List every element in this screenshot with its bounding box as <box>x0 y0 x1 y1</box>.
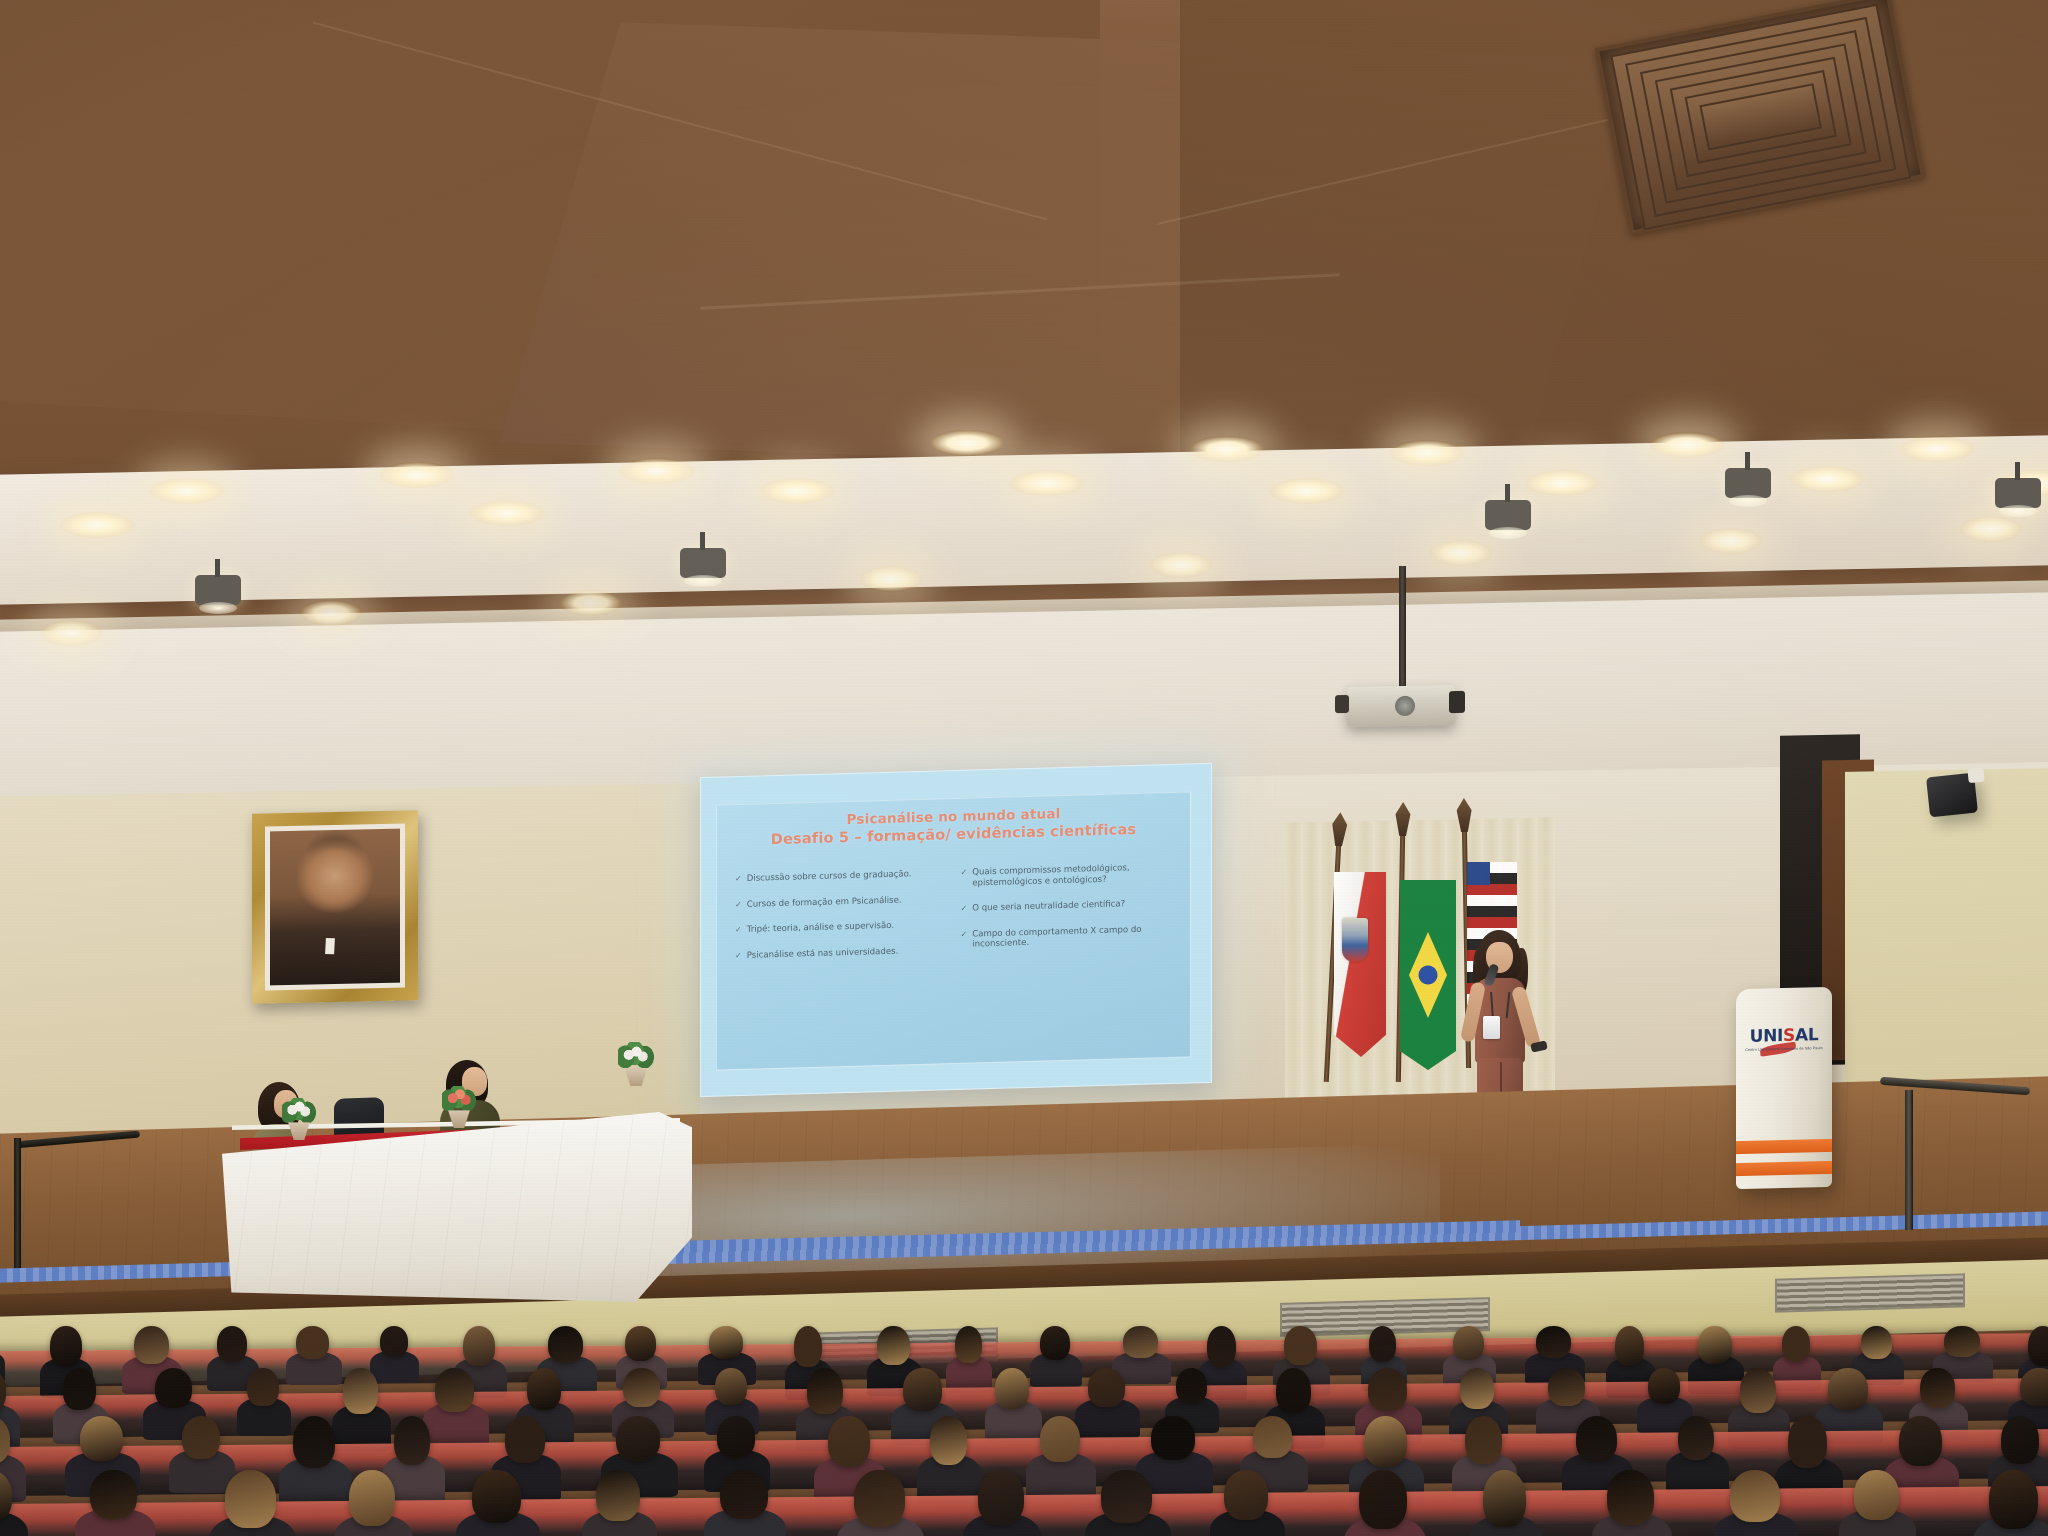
portrait-mat <box>265 824 405 991</box>
ceiling-downlight-icon <box>560 590 622 616</box>
audience-member-head <box>828 1416 871 1467</box>
audience-member-head <box>50 1326 81 1366</box>
audience-member-head <box>1536 1326 1571 1358</box>
podium-logo: UNISAL Centro Universitário Salesiano de… <box>1745 1025 1823 1052</box>
audience-member-head <box>134 1326 169 1364</box>
slide-bullet-text: Quais compromissos metodológicos, episte… <box>972 862 1172 889</box>
audience-member-head <box>715 1368 747 1405</box>
audience-member-head <box>155 1368 192 1408</box>
audience-member-head <box>1678 1416 1715 1460</box>
brazil-flag-globe <box>1419 966 1438 985</box>
checkmark-icon: ✓ <box>735 874 742 885</box>
audience-member-head <box>1548 1368 1586 1406</box>
audience-member-head <box>1648 1368 1681 1404</box>
brazil-flag <box>1400 880 1456 1070</box>
audience-member-head <box>1253 1416 1293 1458</box>
ceiling-downlight-icon <box>1010 470 1084 496</box>
slide-bullet-left-2: ✓Cursos de formação em Psicanálise. <box>735 894 947 910</box>
audience-member-head <box>527 1368 561 1410</box>
checkmark-icon: ✓ <box>735 925 742 936</box>
audience-member-head <box>1698 1326 1731 1364</box>
checkmark-icon: ✓ <box>961 929 968 950</box>
presenter-name-badge <box>1483 1016 1500 1039</box>
audience-member-head <box>247 1368 279 1406</box>
audience-member-head <box>1920 1368 1955 1408</box>
slide-bullet-text: Psicanálise está nas universidades. <box>747 945 947 961</box>
audience-member-head <box>1730 1470 1780 1522</box>
audience-member-head <box>2001 1416 2040 1464</box>
ceiling-downlight-icon <box>1900 436 1974 462</box>
ceiling-downlight-icon <box>150 478 224 504</box>
ceiling-downlight-icon <box>60 512 134 538</box>
projector-lens-icon <box>1395 696 1415 716</box>
audience-member-head <box>217 1326 247 1362</box>
ceiling-downlight-icon <box>1150 552 1212 578</box>
ceiling-downlight-icon <box>300 600 362 626</box>
ceiling-downlight-icon <box>1270 478 1344 504</box>
audience-member-head <box>1944 1326 1979 1357</box>
audience-member-head <box>596 1470 640 1521</box>
ceiling-downlight-icon <box>1960 516 2022 542</box>
audience-member-head <box>807 1368 843 1414</box>
audience-member-head <box>1101 1470 1151 1523</box>
audience-member-head <box>1276 1368 1312 1413</box>
slide-content: Psicanálise no mundo atual Desafio 5 – f… <box>716 791 1191 1070</box>
audience-member-head <box>709 1326 743 1359</box>
bouquet-paper-wrap <box>624 1068 647 1086</box>
audience-member-head <box>1828 1368 1868 1410</box>
slide-bullet-text: Cursos de formação em Psicanálise. <box>747 894 947 910</box>
audience-member-head <box>1176 1368 1208 1404</box>
portrait-collar <box>325 938 335 954</box>
slide-bullet-text: Campo do comportamento X campo do incons… <box>972 923 1172 950</box>
slide-title: Psicanálise no mundo atual Desafio 5 – f… <box>731 803 1176 851</box>
bouquet-blooms <box>447 1089 471 1108</box>
audience-member-head <box>1460 1368 1495 1409</box>
audience-member-head <box>472 1470 521 1523</box>
audience-member-head <box>1284 1326 1317 1365</box>
stage-spotlight-icon <box>680 548 726 578</box>
slide-right-column: ✓Quais compromissos metodológicos, epist… <box>961 862 1173 970</box>
audience-member-head <box>1740 1368 1777 1413</box>
unisal-uni: UNI <box>1750 1026 1783 1047</box>
audience-member-head <box>903 1368 942 1411</box>
ceiling-downlight-icon <box>470 500 544 526</box>
wall-speaker-icon <box>1926 773 1978 818</box>
audience-member-head <box>1899 1416 1943 1466</box>
audience-member-head <box>296 1326 329 1359</box>
projection-screen: Psicanálise no mundo atual Desafio 5 – f… <box>700 763 1212 1097</box>
audience-member-head <box>1854 1470 1899 1520</box>
projector-mount-pole <box>1399 566 1406 690</box>
audience-member-head <box>1088 1368 1126 1407</box>
audience-member-head <box>1368 1368 1408 1411</box>
checkmark-icon: ✓ <box>961 904 968 915</box>
audience-member-head <box>1040 1326 1070 1360</box>
stage-handrail-post-right <box>1905 1090 1913 1230</box>
audience-member-head <box>394 1416 431 1465</box>
unisal-al: AL <box>1795 1025 1818 1046</box>
audience-member-head <box>955 1326 982 1363</box>
ceiling-projector-icon <box>1347 685 1455 727</box>
auditorium-photo: Psicanálise no mundo atual Desafio 5 – f… <box>0 0 2048 1536</box>
right-wall-panel <box>1845 768 2048 1112</box>
stage-spotlight-icon <box>1725 468 1771 498</box>
audience-member-head <box>794 1326 822 1367</box>
checkmark-icon: ✓ <box>735 950 742 961</box>
slide-bullet-text: O que seria neutralidade científica? <box>972 898 1172 914</box>
audience-member-head <box>2028 1326 2048 1366</box>
audience-member-head <box>1615 1326 1644 1366</box>
ceiling-downlight-icon <box>1650 432 1724 458</box>
slide-bullet-text: Discussão sobre cursos de graduação. <box>747 868 947 884</box>
slide-bullet-right-2: ✓O que seria neutralidade científica? <box>961 898 1173 914</box>
audience-member-head <box>1453 1326 1484 1360</box>
wall-portrait <box>252 810 418 1003</box>
audience-member-head <box>1788 1416 1828 1468</box>
checkmark-icon: ✓ <box>735 899 742 910</box>
slide-bullet-right-3: ✓Campo do comportamento X campo do incon… <box>961 923 1173 950</box>
stage-spotlight-icon <box>1995 478 2041 508</box>
audience-member-head <box>225 1470 276 1528</box>
audience-member-head <box>623 1368 660 1407</box>
audience-member-head <box>90 1470 137 1519</box>
audience-member-head <box>343 1368 378 1414</box>
audience-member-head <box>717 1416 756 1458</box>
audience-member-head <box>1123 1326 1157 1358</box>
audience-member-head <box>930 1416 968 1465</box>
municipal-flag <box>1334 872 1386 1057</box>
audience-member-head <box>548 1326 583 1363</box>
slide-bullet-left-1: ✓Discussão sobre cursos de graduação. <box>735 868 947 884</box>
slide-bullet-left-3: ✓Tripé: teoria, análise e supervisão. <box>735 919 947 935</box>
stage-handrail-post <box>14 1138 21 1268</box>
audience-member-head <box>854 1470 905 1527</box>
unisal-wordmark: UNISAL <box>1745 1025 1823 1047</box>
audience-member-head <box>1861 1326 1892 1359</box>
ceiling-downlight-icon <box>1525 470 1599 496</box>
audience-member-head <box>720 1470 768 1519</box>
flower-arrangement <box>282 1098 316 1140</box>
audience-member-head <box>1607 1470 1654 1525</box>
ceiling-downlight-icon <box>930 430 1004 456</box>
audience-member-head <box>1151 1416 1196 1460</box>
audience-member-head <box>63 1368 96 1410</box>
audience-member-head <box>978 1470 1024 1525</box>
ceiling-downlight-icon <box>1430 540 1492 566</box>
unisal-s: S <box>1783 1026 1795 1046</box>
audience-member-head <box>1369 1326 1396 1362</box>
audience-member-head <box>877 1326 909 1365</box>
flower-arrangement <box>442 1086 476 1128</box>
ceiling-downlight-icon <box>760 478 834 504</box>
lectern-podium: UNISAL Centro Universitário Salesiano de… <box>1736 987 1832 1189</box>
audience-member-head <box>1224 1470 1268 1520</box>
audience-member-head <box>1040 1416 1081 1462</box>
audience-member-head <box>1359 1470 1407 1529</box>
audience-member-head <box>1465 1416 1503 1464</box>
audience-member-head <box>463 1326 495 1366</box>
ceiling-downlight-icon <box>1700 528 1762 554</box>
ceiling-downlight-icon <box>860 566 922 592</box>
bouquet-blooms <box>287 1101 311 1120</box>
ceiling-downlight-icon <box>1390 440 1464 466</box>
slide-bullet-text: Tripé: teoria, análise e supervisão. <box>747 919 947 935</box>
ceiling-downlight-icon <box>380 462 454 488</box>
audience-member-head <box>435 1368 474 1412</box>
ceiling-downlight-icon <box>620 458 694 484</box>
slide-columns: ✓Discussão sobre cursos de graduação.✓Cu… <box>731 862 1176 976</box>
audience-member-head <box>625 1326 655 1361</box>
stage-spotlight-icon <box>1485 500 1531 530</box>
bouquet-paper-wrap <box>448 1110 470 1128</box>
portrait-image <box>270 829 400 986</box>
slide-bullet-left-4: ✓Psicanálise está nas universidades. <box>735 945 947 961</box>
audience-member-head <box>505 1416 546 1463</box>
audience-member-head <box>995 1368 1029 1409</box>
audience-area <box>0 1286 2048 1536</box>
flower-arrangement <box>618 1042 654 1086</box>
stage-spotlight-icon <box>195 575 241 605</box>
podium-stripe-lower <box>1736 1161 1832 1176</box>
municipal-flag-crest <box>1342 918 1368 962</box>
audience-member-head <box>1207 1326 1236 1367</box>
podium-stripe-upper <box>1736 1139 1832 1154</box>
audience-member-head <box>182 1416 221 1459</box>
sao-paulo-flag-canton <box>1467 862 1490 885</box>
audience-member-head <box>293 1416 336 1468</box>
checkmark-icon: ✓ <box>961 868 968 889</box>
audience-member-head <box>616 1416 661 1461</box>
audience-member-head <box>1576 1416 1618 1462</box>
audience-member-head <box>80 1416 124 1461</box>
slide-left-column: ✓Discussão sobre cursos de graduação.✓Cu… <box>735 868 947 976</box>
audience-member-head <box>1782 1326 1810 1362</box>
ceiling-downlight-icon <box>40 620 102 646</box>
slide-bullet-right-1: ✓Quais compromissos metodológicos, epist… <box>961 862 1173 889</box>
audience-member-head <box>380 1326 408 1357</box>
audience-member-head <box>1483 1470 1526 1527</box>
ceiling-downlight-icon <box>1190 436 1264 462</box>
audience-member-head <box>1364 1416 1408 1467</box>
ceiling-downlight-icon <box>1790 466 1864 492</box>
audience-member-head <box>1989 1470 2038 1529</box>
bouquet-blooms <box>623 1046 649 1066</box>
bouquet-paper-wrap <box>288 1122 310 1140</box>
audience-member-head <box>2020 1368 2048 1406</box>
audience-member-head <box>349 1470 395 1526</box>
